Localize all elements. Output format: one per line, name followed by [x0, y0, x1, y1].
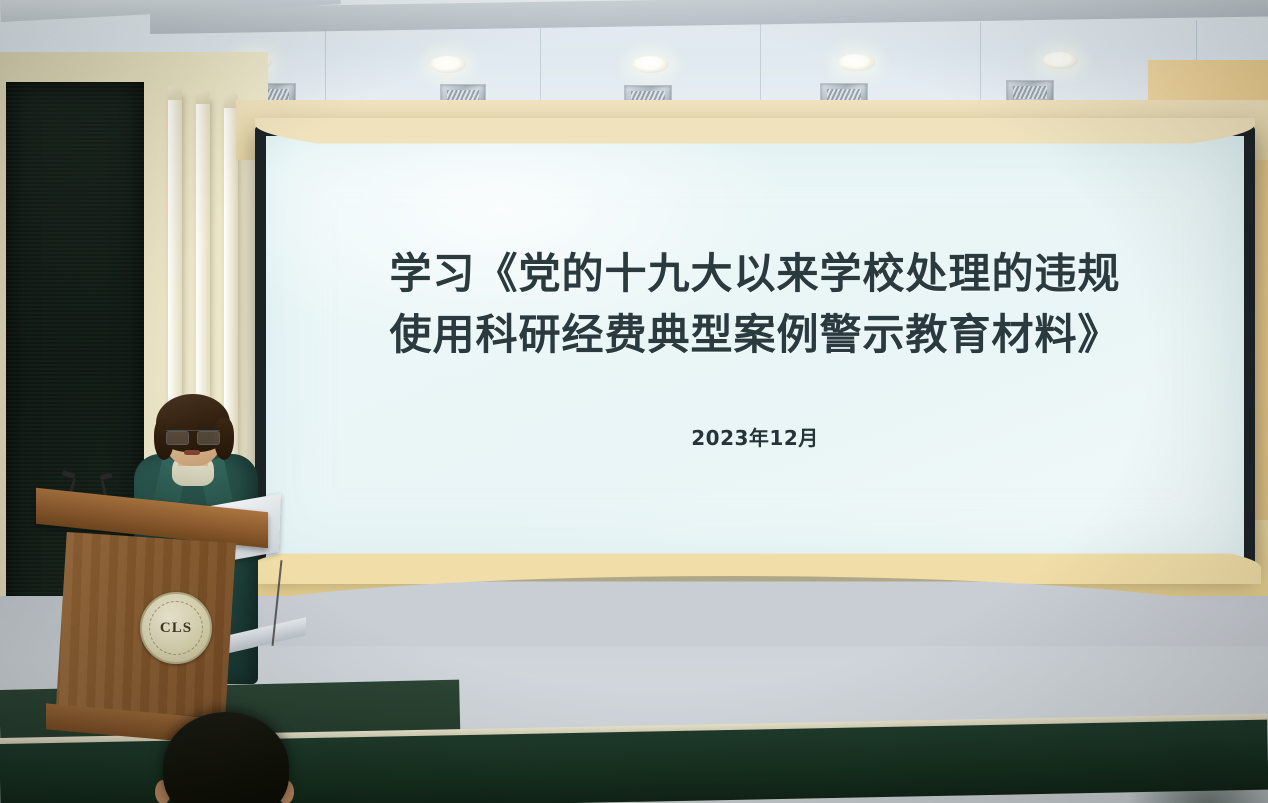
downlight-2 — [430, 56, 466, 73]
lecture-hall-scene: 学习《党的十九大以来学校处理的违规 使用科研经费典型案例警示教育材料》 2023… — [0, 0, 1268, 803]
foreground-shadow — [1128, 733, 1268, 803]
projection-screen[interactable]: 学习《党的十九大以来学校处理的违规 使用科研经费典型案例警示教育材料》 2023… — [266, 136, 1244, 560]
downlight-3 — [632, 56, 669, 73]
downlight-5 — [1042, 52, 1078, 69]
downlight-4 — [838, 54, 875, 71]
presenter-mouth — [184, 450, 200, 455]
slide-title-line-2: 使用科研经费典型案例警示教育材料》 — [355, 305, 1155, 366]
podium-emblem: CLS — [140, 592, 212, 664]
slide-title: 学习《党的十九大以来学校处理的违规 使用科研经费典型案例警示教育材料》 — [355, 244, 1155, 366]
slide-title-line-1: 学习《党的十九大以来学校处理的违规 — [355, 244, 1155, 305]
wall-fin-cap-1 — [168, 86, 182, 100]
presentation-slide: 学习《党的十九大以来学校处理的违规 使用科研经费典型案例警示教育材料》 2023… — [266, 136, 1244, 560]
slide-date: 2023年12月 — [691, 422, 819, 451]
wall-fin-cap-2 — [196, 90, 210, 104]
podium-emblem-text: CLS — [160, 620, 192, 637]
presenter-glasses — [166, 430, 220, 444]
